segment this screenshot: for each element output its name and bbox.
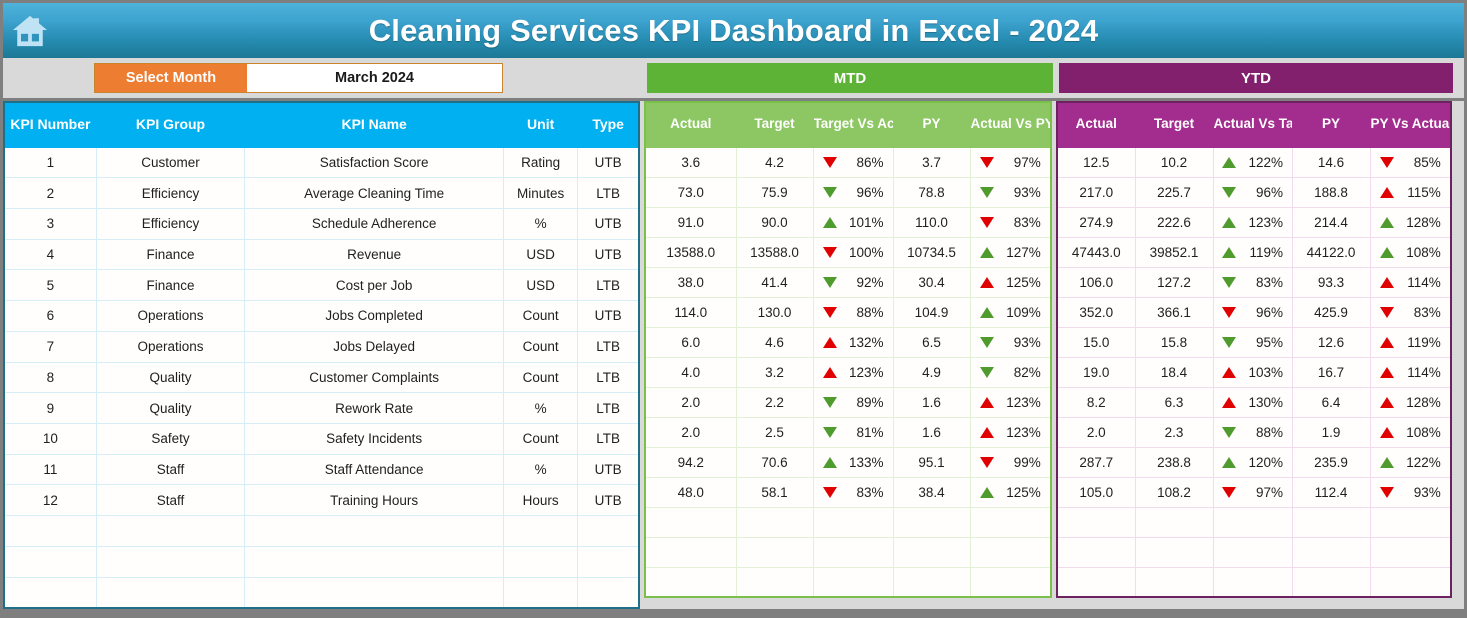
kpi-unit: Count [504,362,578,393]
ytd-actual-vs-target: 120% [1213,447,1292,477]
variance-percent: 133% [846,455,884,470]
ytd-band: YTD [1059,63,1453,93]
column-header-unit[interactable]: Unit [504,102,578,147]
arrow-up-icon [980,277,994,288]
table-row: 6OperationsJobs CompletedCountUTB [4,301,639,332]
variance-percent: 103% [1245,365,1283,380]
ytd-actual-vs-target: 130% [1213,387,1292,417]
variance-percent: 82% [1003,365,1041,380]
arrow-up-icon [1380,217,1394,228]
kpi-name: Average Cleaning Time [245,178,504,209]
table-row: 105.0108.297%112.493% [1057,477,1451,507]
ytd-actual-vs-target: 122% [1213,147,1292,177]
mtd-actual-vs-py: 97% [970,147,1051,177]
mtd-py: 1.6 [893,417,970,447]
table-row: 73.075.996%78.893% [645,177,1051,207]
ytd-actual: 106.0 [1057,267,1135,297]
variance-percent: 93% [1403,485,1441,500]
mtd-target: 130.0 [736,297,813,327]
arrow-up-icon [823,337,837,348]
ytd-actual [1057,507,1135,537]
table-row: 287.7238.8120%235.9122% [1057,447,1451,477]
variance-percent: 92% [846,275,884,290]
kpi-group: Staff [96,485,244,516]
ytd-py [1292,537,1370,567]
kpi-group [96,577,244,608]
ytd-target: 222.6 [1135,207,1213,237]
kpi-name [245,516,504,547]
ytd-py: 16.7 [1292,357,1370,387]
table-row: 114.0130.088%104.9109% [645,297,1051,327]
arrow-up-icon [1222,397,1236,408]
arrow-down-icon [823,247,837,258]
mtd-target [736,567,813,597]
kpi-number: 5 [4,270,96,301]
kpi-unit [504,546,578,577]
kpi-name: Training Hours [245,485,504,516]
column-header-actual-vs-py[interactable]: Actual Vs PY [970,102,1051,147]
variance-percent: 114% [1403,365,1441,380]
kpi-group: Finance [96,239,244,270]
ytd-target [1135,567,1213,597]
select-month-value[interactable]: March 2024 [247,64,502,92]
kpi-number [4,516,96,547]
arrow-down-icon [980,187,994,198]
kpi-name: Customer Complaints [245,362,504,393]
arrow-down-icon [1380,157,1394,168]
mtd-actual: 48.0 [645,477,736,507]
arrow-down-icon [1222,187,1236,198]
kpi-group: Quality [96,393,244,424]
table-row: 9QualityRework Rate%LTB [4,393,639,424]
kpi-name [245,546,504,577]
mtd-target-vs-actual: 92% [813,267,893,297]
arrow-down-icon [823,307,837,318]
mtd-py: 104.9 [893,297,970,327]
variance-percent: 88% [1245,425,1283,440]
column-header-kpi-name[interactable]: KPI Name [245,102,504,147]
kpi-name: Jobs Delayed [245,331,504,362]
mtd-actual-vs-py [970,507,1051,537]
variance-percent: 132% [846,335,884,350]
kpi-type: LTB [578,178,639,209]
mtd-target-vs-actual: 101% [813,207,893,237]
arrow-down-icon [1222,277,1236,288]
kpi-unit: Count [504,423,578,454]
mtd-actual-vs-py: 125% [970,477,1051,507]
table-row: 48.058.183%38.4125% [645,477,1051,507]
kpi-number: 12 [4,485,96,516]
ytd-actual: 15.0 [1057,327,1135,357]
arrow-up-icon [823,367,837,378]
table-row-empty [645,537,1051,567]
kpi-type: LTB [578,270,639,301]
ytd-py-vs-actual: 119% [1370,327,1451,357]
mtd-py: 30.4 [893,267,970,297]
arrow-down-icon [823,157,837,168]
mtd-target: 4.2 [736,147,813,177]
page-title: Cleaning Services KPI Dashboard in Excel… [57,13,1464,49]
variance-percent: 122% [1245,155,1283,170]
mtd-target: 75.9 [736,177,813,207]
kpi-definition-table: KPI NumberKPI GroupKPI NameUnitType 1Cus… [3,101,640,609]
mtd-py: 78.8 [893,177,970,207]
mtd-actual [645,567,736,597]
column-header-py-vs-actual[interactable]: PY Vs Actual [1370,102,1451,147]
mtd-target: 4.6 [736,327,813,357]
mtd-table-wrap: ActualTargetTarget Vs ActualPYActual Vs … [640,101,1052,609]
column-header-target[interactable]: Target [1135,102,1213,147]
variance-percent: 119% [1403,335,1441,350]
ytd-target: 39852.1 [1135,237,1213,267]
table-row-empty [1057,567,1451,597]
table-row: 38.041.492%30.4125% [645,267,1051,297]
mtd-py: 3.7 [893,147,970,177]
arrow-down-icon [980,157,994,168]
ytd-actual-vs-target [1213,507,1292,537]
arrow-up-icon [1380,247,1394,258]
mtd-actual [645,537,736,567]
table-row: 7OperationsJobs DelayedCountLTB [4,331,639,362]
arrow-up-icon [1222,157,1236,168]
mtd-actual-vs-py: 109% [970,297,1051,327]
column-header-actual[interactable]: Actual [1057,102,1135,147]
arrow-up-icon [1222,247,1236,258]
mtd-target: 2.5 [736,417,813,447]
arrow-down-icon [980,457,994,468]
ytd-py: 14.6 [1292,147,1370,177]
mtd-py [893,537,970,567]
table-row-empty [1057,537,1451,567]
kpi-group: Efficiency [96,208,244,239]
ytd-py: 6.4 [1292,387,1370,417]
kpi-type: UTB [578,485,639,516]
column-header-actual[interactable]: Actual [645,102,736,147]
column-header-py[interactable]: PY [893,102,970,147]
arrow-down-icon [1222,337,1236,348]
ytd-actual-vs-target: 88% [1213,417,1292,447]
variance-percent: 97% [1003,155,1041,170]
variance-percent: 93% [1003,185,1041,200]
table-row: 217.0225.796%188.8115% [1057,177,1451,207]
ytd-py [1292,567,1370,597]
arrow-up-icon [1380,187,1394,198]
table-row: 2EfficiencyAverage Cleaning TimeMinutesL… [4,178,639,209]
kpi-name: Rework Rate [245,393,504,424]
mtd-actual-vs-py: 83% [970,207,1051,237]
variance-percent: 93% [1003,335,1041,350]
arrow-down-icon [823,427,837,438]
mtd-target-vs-actual: 86% [813,147,893,177]
mtd-target-vs-actual: 88% [813,297,893,327]
mtd-target: 13588.0 [736,237,813,267]
kpi-number: 3 [4,208,96,239]
mtd-target-vs-actual: 81% [813,417,893,447]
ytd-actual-vs-target [1213,567,1292,597]
mtd-actual-vs-py: 93% [970,177,1051,207]
arrow-up-icon [1380,457,1394,468]
mtd-actual-vs-py: 82% [970,357,1051,387]
mtd-target-vs-actual [813,537,893,567]
mtd-band: MTD [647,63,1053,93]
kpi-name: Safety Incidents [245,423,504,454]
ytd-target: 10.2 [1135,147,1213,177]
mtd-py: 4.9 [893,357,970,387]
variance-percent: 81% [846,425,884,440]
mtd-actual: 114.0 [645,297,736,327]
ytd-target: 108.2 [1135,477,1213,507]
ytd-target: 18.4 [1135,357,1213,387]
mtd-target: 70.6 [736,447,813,477]
mtd-py: 10734.5 [893,237,970,267]
ytd-target: 15.8 [1135,327,1213,357]
variance-percent: 83% [1403,305,1441,320]
table-row: 8QualityCustomer ComplaintsCountLTB [4,362,639,393]
mtd-actual-vs-py: 99% [970,447,1051,477]
ytd-actual-vs-target: 95% [1213,327,1292,357]
variance-percent: 85% [1403,155,1441,170]
variance-percent: 96% [846,185,884,200]
ytd-actual: 12.5 [1057,147,1135,177]
mtd-py: 38.4 [893,477,970,507]
kpi-group: Staff [96,454,244,485]
kpi-unit: % [504,208,578,239]
ytd-target: 238.8 [1135,447,1213,477]
column-header-kpi-number[interactable]: KPI Number [4,102,96,147]
kpi-number: 7 [4,331,96,362]
ytd-target: 6.3 [1135,387,1213,417]
mtd-actual: 91.0 [645,207,736,237]
arrow-down-icon [1222,487,1236,498]
mtd-actual: 6.0 [645,327,736,357]
table-header-row: ActualTargetTarget Vs ActualPYActual Vs … [645,102,1051,147]
arrow-up-icon [1380,397,1394,408]
ytd-py-vs-actual [1370,537,1451,567]
variance-percent: 109% [1003,305,1041,320]
kpi-number: 11 [4,454,96,485]
kpi-name: Staff Attendance [245,454,504,485]
kpi-unit: Count [504,331,578,362]
ytd-py: 44122.0 [1292,237,1370,267]
kpi-type: LTB [578,393,639,424]
table-row: 352.0366.196%425.983% [1057,297,1451,327]
mtd-target: 3.2 [736,357,813,387]
arrow-down-icon [823,187,837,198]
variance-percent: 120% [1245,455,1283,470]
kpi-type [578,516,639,547]
ytd-py-vs-actual: 93% [1370,477,1451,507]
variance-percent: 123% [1245,215,1283,230]
table-row: 274.9222.6123%214.4128% [1057,207,1451,237]
table-row-empty [645,567,1051,597]
table-row: 2.02.289%1.6123% [645,387,1051,417]
mtd-target-vs-actual [813,507,893,537]
kpi-number: 9 [4,393,96,424]
arrow-up-icon [823,217,837,228]
kpi-number: 6 [4,301,96,332]
mtd-py: 6.5 [893,327,970,357]
kpi-unit: Count [504,301,578,332]
arrow-down-icon [1222,427,1236,438]
arrow-down-icon [823,277,837,288]
kpi-name [245,577,504,608]
kpi-number: 8 [4,362,96,393]
table-row: 10SafetySafety IncidentsCountLTB [4,423,639,454]
ytd-actual [1057,567,1135,597]
table-row: 3.64.286%3.797% [645,147,1051,177]
ytd-actual: 47443.0 [1057,237,1135,267]
mtd-actual: 2.0 [645,387,736,417]
tables-area: KPI NumberKPI GroupKPI NameUnitType 1Cus… [3,101,1464,609]
arrow-up-icon [1380,427,1394,438]
arrow-down-icon [1380,307,1394,318]
arrow-down-icon [980,367,994,378]
kpi-unit: % [504,393,578,424]
mtd-py [893,567,970,597]
ytd-py-vs-actual: 108% [1370,237,1451,267]
mtd-target: 41.4 [736,267,813,297]
table-row-empty [1057,507,1451,537]
table-row-empty [645,507,1051,537]
table-row: 13588.013588.0100%10734.5127% [645,237,1051,267]
arrow-up-icon [980,307,994,318]
kpi-type: LTB [578,331,639,362]
ytd-py-vs-actual: 83% [1370,297,1451,327]
kpi-unit [504,516,578,547]
arrow-down-icon [823,397,837,408]
mtd-actual-vs-py: 123% [970,417,1051,447]
arrow-up-icon [980,487,994,498]
mtd-target-vs-actual: 96% [813,177,893,207]
variance-percent: 88% [846,305,884,320]
table-row-empty [4,577,639,608]
variance-percent: 97% [1245,485,1283,500]
kpi-unit: Minutes [504,178,578,209]
table-row: 15.015.895%12.6119% [1057,327,1451,357]
ytd-actual-vs-target: 96% [1213,177,1292,207]
kpi-group: Finance [96,270,244,301]
ytd-actual: 274.9 [1057,207,1135,237]
ytd-actual: 287.7 [1057,447,1135,477]
variance-percent: 108% [1403,425,1441,440]
kpi-unit: Hours [504,485,578,516]
kpi-name: Revenue [245,239,504,270]
ytd-py-vs-actual [1370,507,1451,537]
column-header-py[interactable]: PY [1292,102,1370,147]
column-header-actual-vs-target[interactable]: Actual Vs Target [1213,102,1292,147]
mtd-actual: 73.0 [645,177,736,207]
variance-percent: 83% [1003,215,1041,230]
variance-percent: 128% [1403,395,1441,410]
variance-percent: 128% [1403,215,1441,230]
column-header-target-vs-actual[interactable]: Target Vs Actual [813,102,893,147]
table-header-row: ActualTargetActual Vs TargetPYPY Vs Actu… [1057,102,1451,147]
variance-percent: 123% [1003,425,1041,440]
home-icon[interactable] [3,3,57,58]
kpi-unit: Rating [504,147,578,178]
arrow-up-icon [1380,277,1394,288]
arrow-up-icon [1380,367,1394,378]
kpi-type: UTB [578,147,639,178]
arrow-up-icon [980,247,994,258]
ytd-actual: 19.0 [1057,357,1135,387]
arrow-down-icon [1222,307,1236,318]
kpi-group: Safety [96,423,244,454]
ytd-actual: 8.2 [1057,387,1135,417]
mtd-py: 110.0 [893,207,970,237]
kpi-group [96,516,244,547]
table-row: 4.03.2123%4.982% [645,357,1051,387]
table-row: 94.270.6133%95.199% [645,447,1051,477]
mtd-py [893,507,970,537]
table-row: 5FinanceCost per JobUSDLTB [4,270,639,301]
variance-percent: 123% [846,365,884,380]
kpi-group: Customer [96,147,244,178]
arrow-up-icon [980,427,994,438]
ytd-py-vs-actual: 128% [1370,207,1451,237]
column-header-type[interactable]: Type [578,102,639,147]
table-row: 12.510.2122%14.685% [1057,147,1451,177]
variance-percent: 119% [1245,245,1283,260]
ytd-py: 235.9 [1292,447,1370,477]
arrow-down-icon [980,217,994,228]
table-row: 106.0127.283%93.3114% [1057,267,1451,297]
ytd-py [1292,507,1370,537]
ytd-actual-vs-target: 83% [1213,267,1292,297]
ytd-py-vs-actual: 128% [1370,387,1451,417]
table-row: 8.26.3130%6.4128% [1057,387,1451,417]
table-row-empty [4,546,639,577]
mtd-target-vs-actual: 83% [813,477,893,507]
mtd-target: 90.0 [736,207,813,237]
kpi-type: UTB [578,239,639,270]
variance-percent: 127% [1003,245,1041,260]
kpi-unit: % [504,454,578,485]
variance-percent: 115% [1403,185,1441,200]
mtd-target-vs-actual [813,567,893,597]
select-month-control[interactable]: Select Month March 2024 [94,63,503,93]
mtd-target-vs-actual: 123% [813,357,893,387]
table-row: 6.04.6132%6.593% [645,327,1051,357]
mtd-actual: 2.0 [645,417,736,447]
kpi-type: LTB [578,423,639,454]
table-row: 91.090.0101%110.083% [645,207,1051,237]
variance-percent: 96% [1245,185,1283,200]
ytd-actual-vs-target: 123% [1213,207,1292,237]
mtd-target: 2.2 [736,387,813,417]
mtd-target-vs-actual: 133% [813,447,893,477]
kpi-type [578,577,639,608]
ytd-target: 225.7 [1135,177,1213,207]
kpi-number [4,577,96,608]
column-header-kpi-group[interactable]: KPI Group [96,102,244,147]
ytd-py-vs-actual: 122% [1370,447,1451,477]
mtd-actual-vs-py [970,567,1051,597]
kpi-type: UTB [578,208,639,239]
table-row-empty [4,516,639,547]
variance-percent: 125% [1003,485,1041,500]
ytd-py: 12.6 [1292,327,1370,357]
variance-percent: 95% [1245,335,1283,350]
kpi-group: Efficiency [96,178,244,209]
kpi-number: 10 [4,423,96,454]
ytd-actual: 217.0 [1057,177,1135,207]
column-header-target[interactable]: Target [736,102,813,147]
mtd-target-vs-actual: 100% [813,237,893,267]
mtd-actual-vs-py [970,537,1051,567]
table-row: 19.018.4103%16.7114% [1057,357,1451,387]
control-strip: Select Month March 2024 MTD YTD [3,58,1464,98]
